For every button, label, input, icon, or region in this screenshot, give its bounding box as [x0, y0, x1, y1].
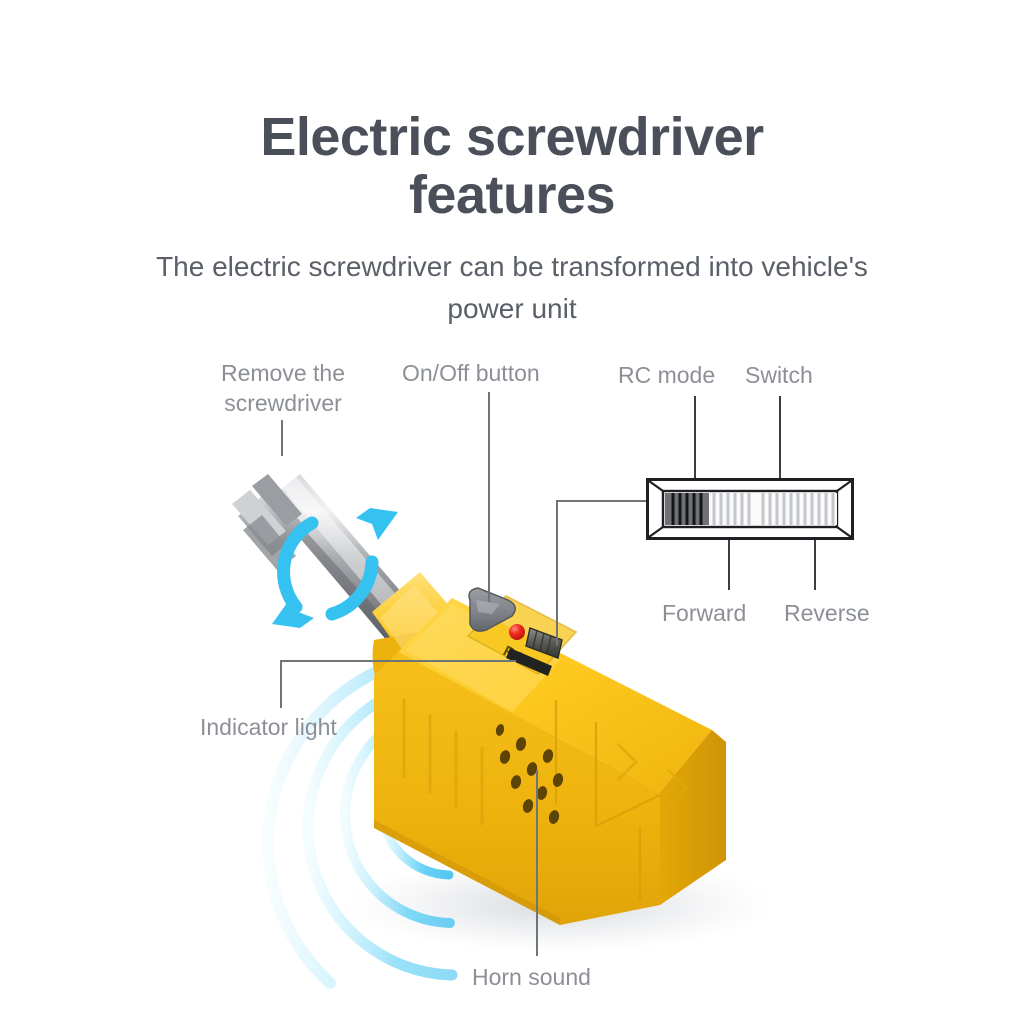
leader-line-detail-vertical [556, 500, 558, 646]
leader-line-detail-horizontal [556, 500, 648, 502]
leader-line-rc-mode [694, 396, 696, 484]
leader-line-on-off-button [488, 392, 490, 602]
leader-line-indicator-horizontal [280, 660, 516, 662]
leader-line-remove-screwdriver [281, 420, 283, 456]
label-switch: Switch [745, 360, 813, 390]
leader-line-horn-sound [536, 770, 538, 956]
label-reverse: Reverse [784, 598, 870, 628]
switch-detail-diagram [646, 478, 854, 540]
page-title-line1: Electric screwdriver [260, 107, 763, 167]
indicator-light-led [509, 624, 525, 640]
page-title: Electric screwdriver features [0, 108, 1024, 224]
infographic-canvas: RC Electric screwdriver features The ele… [0, 0, 1024, 1024]
label-rc-mode: RC mode [618, 360, 715, 390]
label-forward: Forward [662, 598, 746, 628]
page-subtitle: The electric screwdriver can be transfor… [130, 246, 894, 330]
label-remove-screwdriver: Remove the screwdriver [204, 358, 362, 418]
label-horn-sound: Horn sound [472, 962, 591, 992]
leader-line-switch [779, 396, 781, 484]
label-on-off-button: On/Off button [402, 358, 540, 388]
leader-line-indicator-vertical [280, 660, 282, 708]
page-title-line2: features [0, 166, 1024, 224]
label-indicator-light: Indicator light [200, 712, 337, 742]
